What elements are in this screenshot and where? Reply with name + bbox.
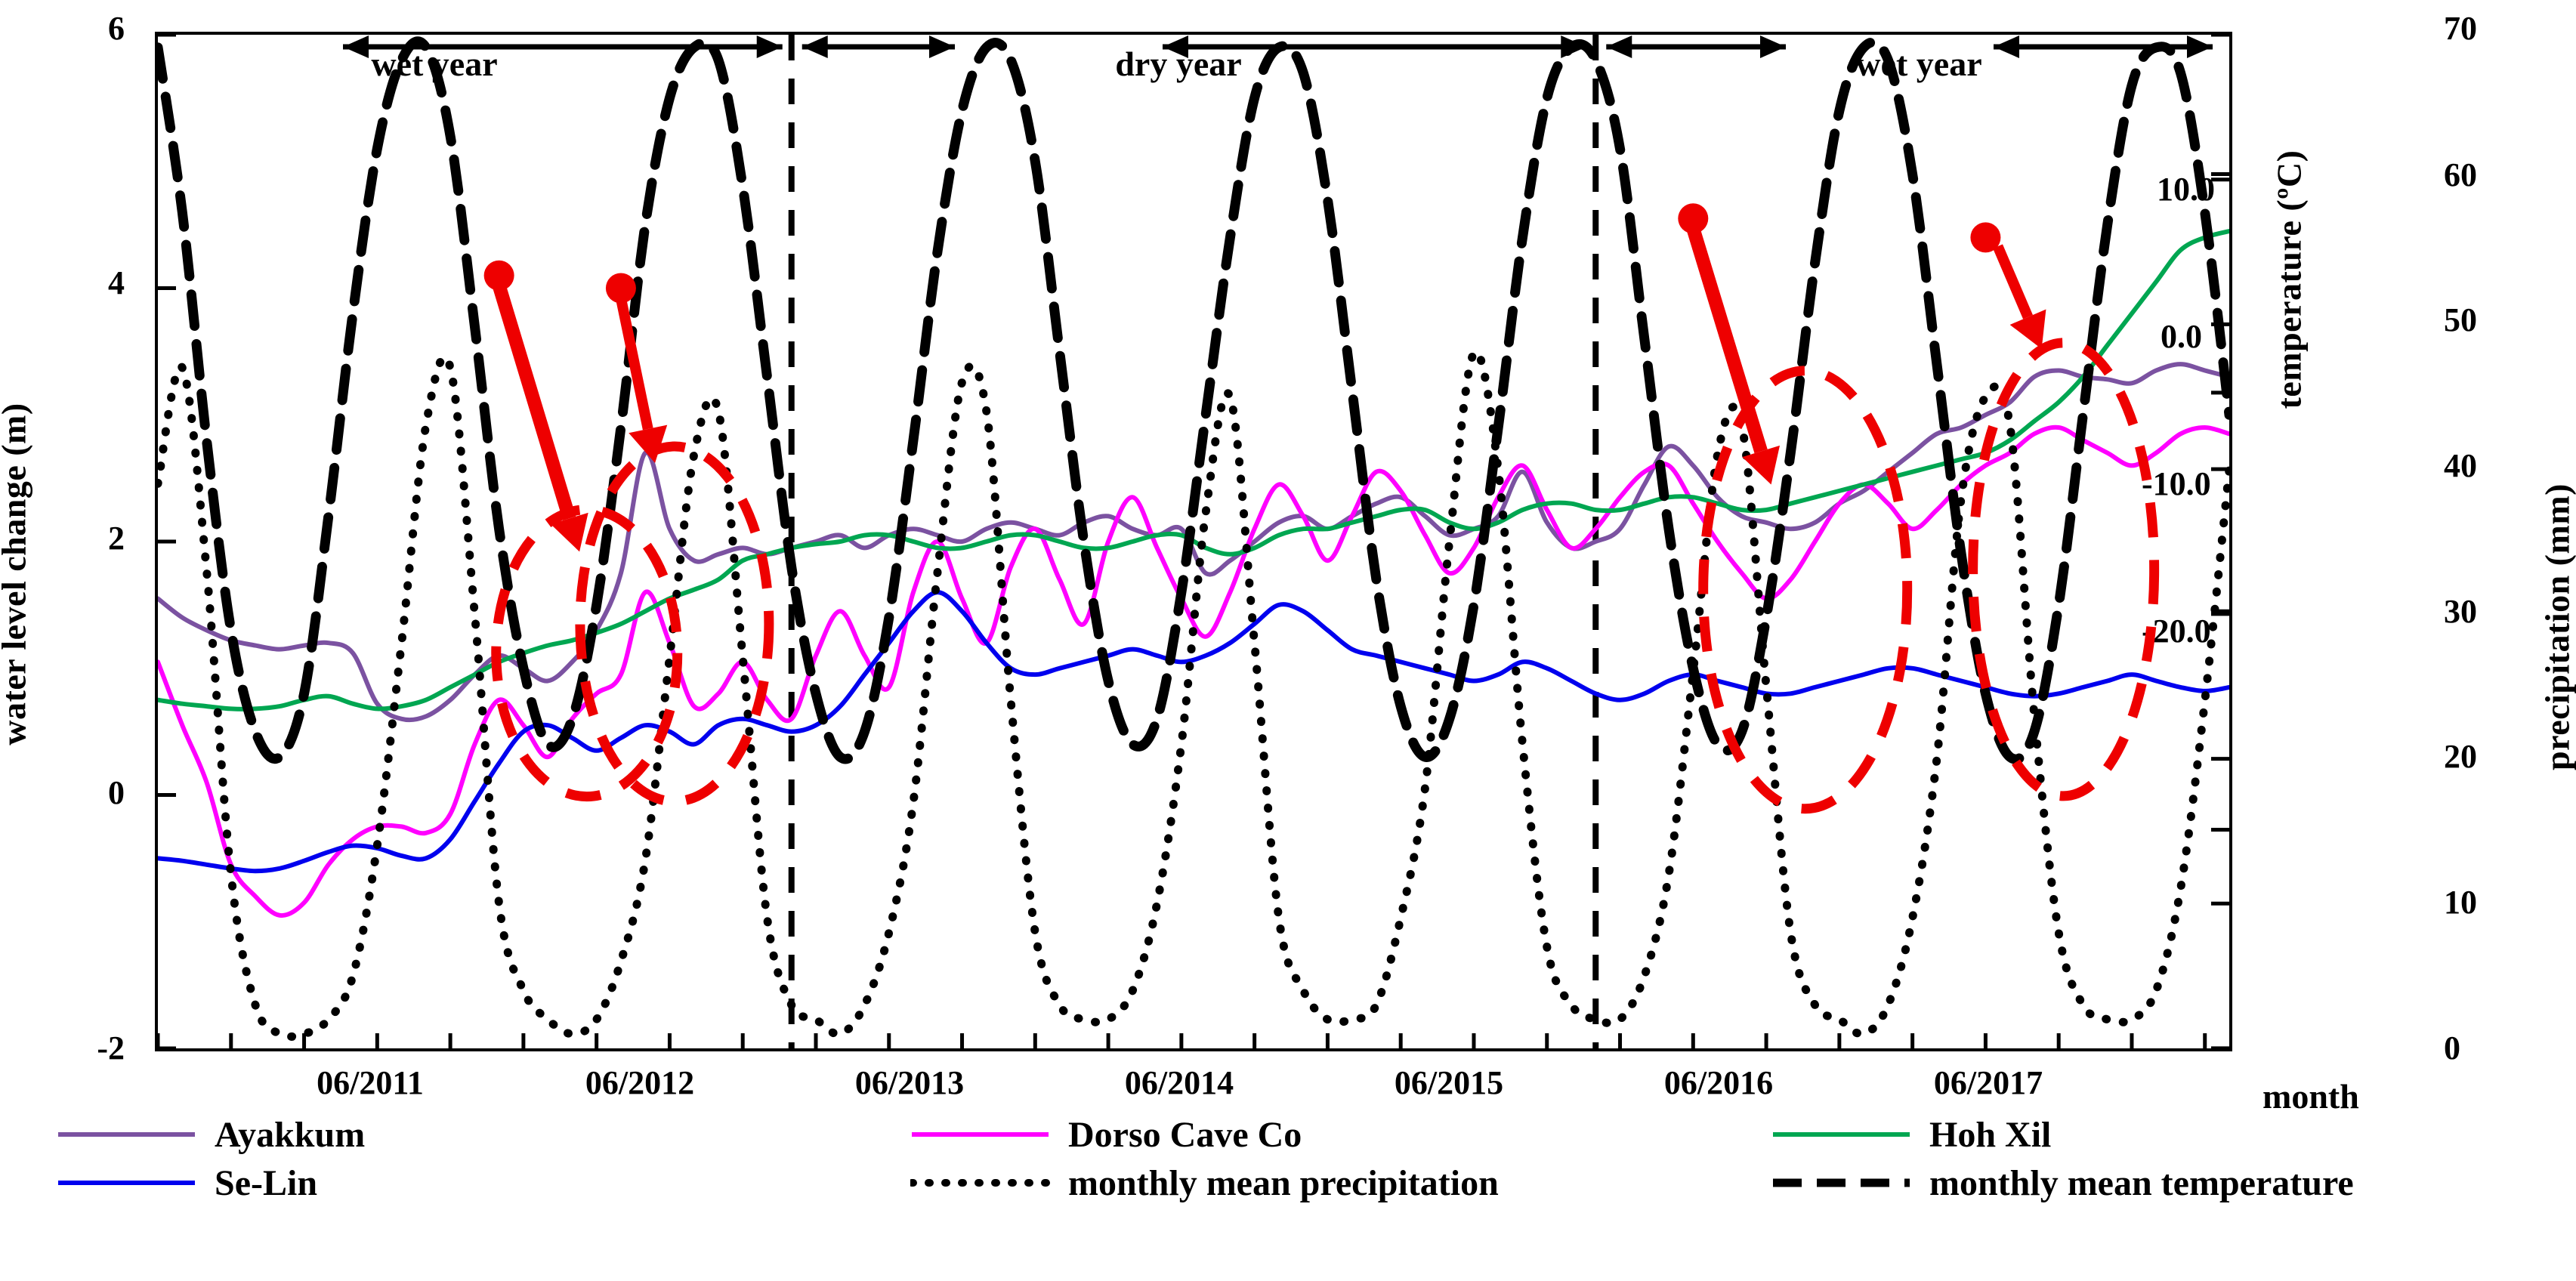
xtick-0: 06/2011 (257, 1063, 483, 1102)
phase-arrow (1994, 35, 2213, 58)
ytick-left-0: -2 (34, 1029, 125, 1067)
legend: Ayakkum Dorso Cave Co Hoh Xil Se-Lin (57, 1110, 2550, 1207)
xtick-3: 06/2014 (1066, 1063, 1293, 1102)
ytick-left-1: 0 (34, 773, 125, 812)
xtick-6: 06/2017 (1875, 1063, 2102, 1102)
phase-arrow (1606, 35, 1786, 58)
legend-label-ayakkum: Ayakkum (215, 1114, 365, 1156)
phase-arrow (802, 35, 955, 58)
series-group (158, 42, 2229, 1037)
ytick-precip-4: 40 (2444, 446, 2576, 485)
ytick-precip-5: 50 (2444, 301, 2576, 339)
red-dashed-ellipse (1703, 371, 1907, 809)
ytick-left-3: 4 (34, 264, 125, 302)
red-annotation-arrow (1998, 246, 2046, 349)
series-monthly-mean-precipitation (158, 352, 2229, 1037)
legend-label-hohxil: Hoh Xil (1929, 1114, 2051, 1156)
legend-row-1: Ayakkum Dorso Cave Co Hoh Xil (57, 1110, 2550, 1159)
red-annotation-arrow (1693, 229, 1780, 485)
legend-label-temperature: monthly mean temperature (1929, 1162, 2354, 1204)
ytick-left-4: 6 (34, 9, 125, 48)
legend-item-selin: Se-Lin (57, 1162, 910, 1204)
ytick-precip-7: 70 (2444, 9, 2576, 48)
chart-figure: water level change (m) temperature (ºC) … (0, 0, 2576, 1281)
legend-label-dorso: Dorso Cave Co (1068, 1114, 1302, 1156)
xtick-4: 06/2015 (1336, 1063, 1562, 1102)
ytick-precip-1: 10 (2444, 883, 2576, 921)
dotted-black-line-icon (910, 1171, 1050, 1194)
ytick-precip-0: 0 (2444, 1029, 2576, 1067)
ytick-precip-2: 20 (2444, 737, 2576, 776)
xtick-1: 06/2012 (527, 1063, 753, 1102)
xtick-2: 06/2013 (796, 1063, 1023, 1102)
solid-magenta-line-icon (910, 1123, 1050, 1146)
plot-area (155, 32, 2232, 1051)
dashed-black-line-icon (1771, 1171, 1911, 1194)
solid-blue-line-icon (57, 1171, 196, 1194)
legend-item-ayakkum: Ayakkum (57, 1114, 910, 1156)
legend-label-precipitation: monthly mean precipitation (1068, 1162, 1499, 1204)
plot-svg (158, 35, 2229, 1048)
legend-item-precipitation: monthly mean precipitation (910, 1162, 1771, 1204)
phase-arrow (1163, 35, 1586, 58)
ytick-precip-3: 30 (2444, 592, 2576, 631)
y-axis-label-left: water level change (m) (0, 403, 34, 745)
solid-purple-line-icon (57, 1123, 196, 1146)
solid-green-line-icon (1771, 1123, 1911, 1146)
ytick-left-2: 2 (34, 519, 125, 557)
legend-item-hohxil: Hoh Xil (1771, 1114, 2051, 1156)
xtick-5: 06/2016 (1605, 1063, 1832, 1102)
series-hoh-xil (158, 231, 2229, 709)
legend-label-selin: Se-Lin (215, 1162, 317, 1204)
ytick-precip-6: 60 (2444, 156, 2576, 194)
legend-item-temperature: monthly mean temperature (1771, 1162, 2354, 1204)
legend-row-2: Se-Lin monthly mean precipitation monthl… (57, 1159, 2550, 1207)
legend-item-dorso: Dorso Cave Co (910, 1114, 1771, 1156)
